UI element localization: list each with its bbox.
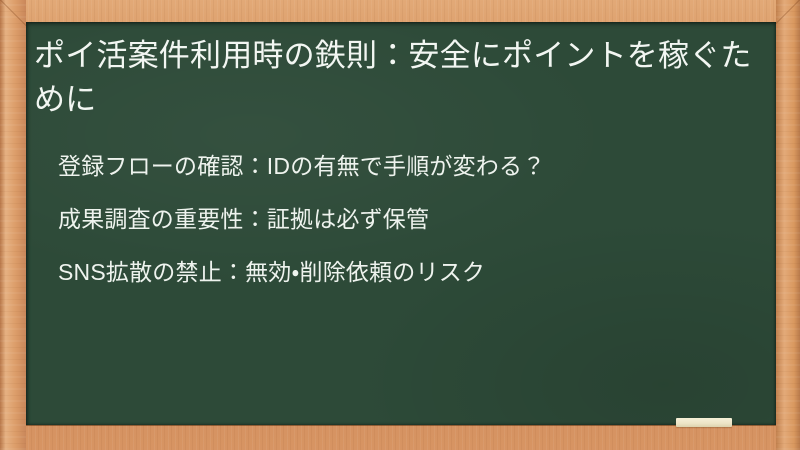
wooden-frame-left-stile — [0, 0, 26, 450]
chalk-stick — [676, 418, 732, 427]
slide-content: ポイ活案件利用時の鉄則：安全にポイントを稼ぐために 登録フローの確認：IDの有無… — [26, 22, 776, 425]
slide-bullet-list: 登録フローの確認：IDの有無で手順が変わる？ 成果調査の重要性：証拠は必ず保管 … — [34, 140, 762, 299]
bullet-item-1: 登録フローの確認：IDの有無で手順が変わる？ — [58, 140, 762, 193]
chalkboard-surface: ポイ活案件利用時の鉄則：安全にポイントを稼ぐために 登録フローの確認：IDの有無… — [26, 22, 776, 425]
bullet-item-2: 成果調査の重要性：証拠は必ず保管 — [58, 193, 762, 246]
wooden-frame-right-stile — [776, 0, 800, 450]
chalkboard-slide: ポイ活案件利用時の鉄則：安全にポイントを稼ぐために 登録フローの確認：IDの有無… — [0, 0, 800, 450]
slide-title: ポイ活案件利用時の鉄則：安全にポイントを稼ぐために — [34, 34, 762, 122]
bullet-item-3: SNS拡散の禁止：無効・削除依頼のリスク — [58, 246, 762, 299]
